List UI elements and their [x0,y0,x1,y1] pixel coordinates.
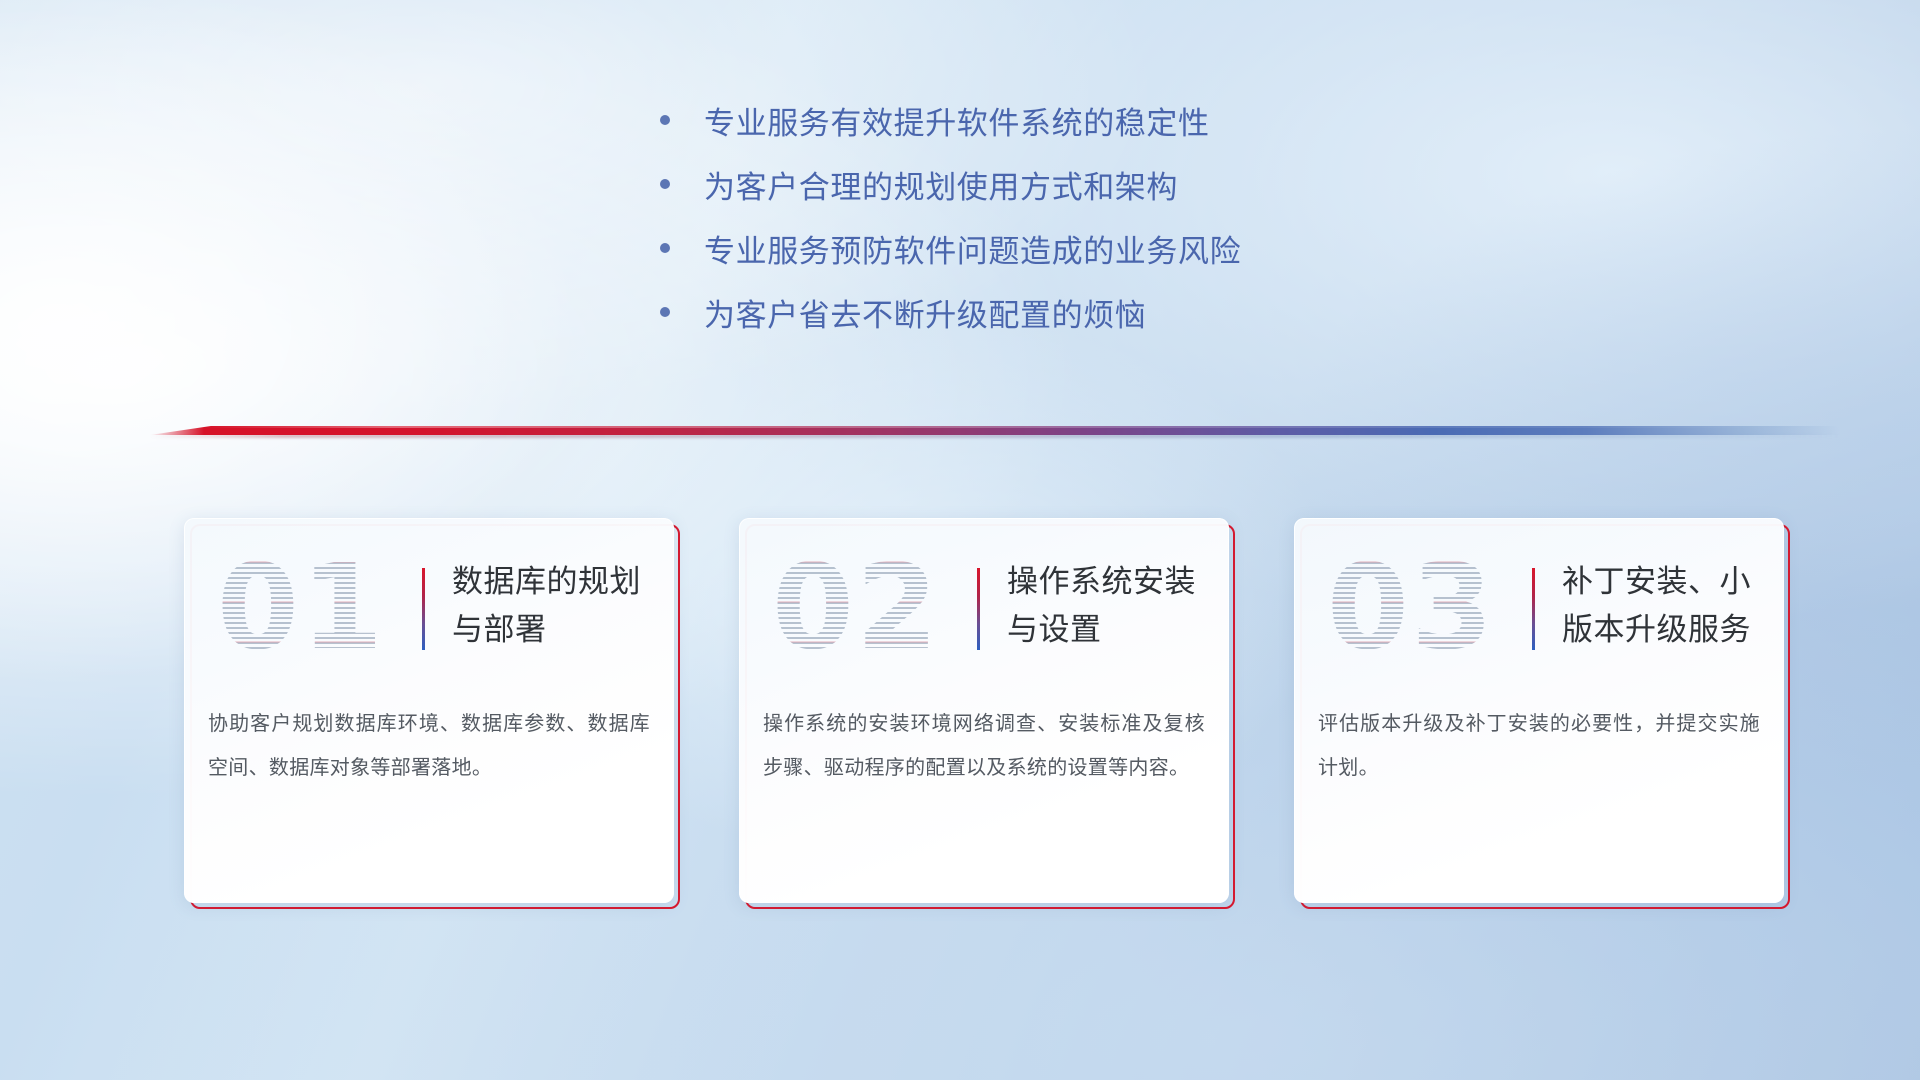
service-card-group: 01 01 数据库的规划与部署 协助客户规划数据库环境、数据库参数、数据库空间、… [184,518,1784,903]
bullet-text: 专业服务有效提升软件系统的稳定性 [704,108,1210,139]
bullet-text: 为客户省去不断升级配置的烦恼 [704,300,1146,331]
section-divider [150,424,1840,438]
list-item: 专业服务预防软件问题造成的业务风险 [660,236,1480,300]
card-number-watermark: 02 [761,542,951,672]
card-title: 操作系统安装与设置 [1007,558,1207,654]
card-description: 协助客户规划数据库环境、数据库参数、数据库空间、数据库对象等部署落地。 [208,702,650,790]
card-number-watermark: 01 [206,542,396,672]
card-description: 评估版本升级及补丁安装的必要性，并提交实施计划。 [1318,702,1760,790]
divider-highlight [201,426,1790,428]
card-title: 数据库的规划与部署 [452,558,652,654]
bullet-dot-icon [660,179,670,189]
service-card[interactable]: 02 02 操作系统安装与设置 操作系统的安装环境网络调查、安装标准及复核步骤、… [739,518,1229,903]
card-description: 操作系统的安装环境网络调查、安装标准及复核步骤、驱动程序的配置以及系统的设置等内… [763,702,1205,790]
list-item: 专业服务有效提升软件系统的稳定性 [660,108,1480,172]
slide-canvas: 专业服务有效提升软件系统的稳定性 为客户合理的规划使用方式和架构 专业服务预防软… [0,0,1920,1080]
card-number-watermark: 03 [1316,542,1506,672]
bullet-dot-icon [660,307,670,317]
bullet-dot-icon [660,115,670,125]
card-title-rule [422,568,425,650]
card-title-rule [977,568,980,650]
bullet-dot-icon [660,243,670,253]
bullet-text: 为客户合理的规划使用方式和架构 [704,172,1178,203]
bullet-text: 专业服务预防软件问题造成的业务风险 [704,236,1241,267]
benefits-bullet-list: 专业服务有效提升软件系统的稳定性 为客户合理的规划使用方式和架构 专业服务预防软… [660,108,1480,364]
list-item: 为客户合理的规划使用方式和架构 [660,172,1480,236]
service-card[interactable]: 01 01 数据库的规划与部署 协助客户规划数据库环境、数据库参数、数据库空间、… [184,518,674,903]
card-title-rule [1532,568,1535,650]
list-item: 为客户省去不断升级配置的烦恼 [660,300,1480,364]
card-title: 补丁安装、小版本升级服务 [1562,558,1762,654]
service-card[interactable]: 03 03 补丁安装、小版本升级服务 评估版本升级及补丁安装的必要性，并提交实施… [1294,518,1784,903]
